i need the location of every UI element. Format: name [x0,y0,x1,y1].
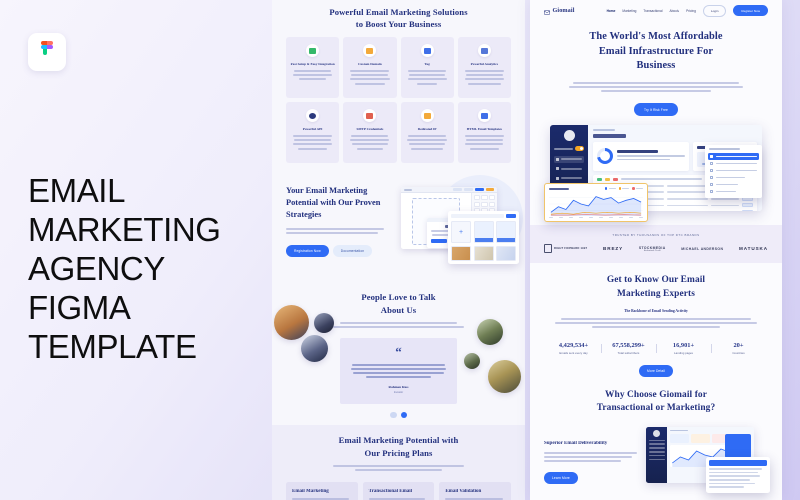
pricing-heading: Email Marketing Potential with Our Prici… [272,434,525,458]
feature-card[interactable]: Powerful Analytics [458,37,511,98]
checkbox-icon [710,183,713,186]
envelope-icon [544,2,550,20]
pricing-grid: Email Marketing Transactional Email Emai… [286,482,511,500]
window-icon [478,109,491,122]
template-tile[interactable] [451,246,471,262]
experts-subheading: The Backbone of Email Sending Activity [546,309,766,313]
donut-chart [597,148,613,164]
bar-chart-icon [421,44,434,57]
nav-link-home[interactable]: Home [607,9,616,13]
dashboard-nav-item[interactable] [554,165,584,172]
open-folder-icon [421,109,434,122]
hero-subtext [550,82,762,95]
promo-title-line: MARKETING [28,211,260,250]
brand-logo-text: MATUSKA [739,246,768,251]
quote-icon: “ [395,347,402,357]
giomail-dashboard-mockup [544,125,768,222]
legend-item [632,187,643,190]
stats-row: 4,429,534+ Emails sent every day 67,558,… [546,342,766,356]
feature-card[interactable]: HTML Email Templates [458,102,511,163]
site-logo-text: Giomail [553,7,575,14]
dashboard-dropdown-menu[interactable] [705,145,762,198]
testimonials-section: People Love to Talk About Us “ Rahman Ki… [272,291,525,421]
feature-card-body [405,135,450,152]
testimonial-author: Rahman Kios [389,385,409,389]
feature-card[interactable]: Custom Domain [343,37,396,98]
site-logo[interactable]: Giomail [544,2,575,20]
feature-card-title: Tag [424,62,429,67]
toggle-switch-icon [575,146,584,151]
brand-logo: MICHAEL ANDERSON [681,247,723,251]
trusted-brands-section: Trusted by thousands of top DTC brands R… [530,225,782,263]
feature-card-title: HTML Email Templates [467,127,502,132]
feature-card-body [347,135,392,152]
stat-item: 20+ Countries [711,342,766,356]
brand-logo: STOCKMEDIA Selected Craft [639,246,666,252]
template-tile[interactable] [474,246,494,262]
dashboard-logo-icon [564,130,575,141]
pricing-card-title: Transactional Email [369,489,429,494]
feature-card-body [405,70,450,87]
template-tile[interactable] [496,246,516,262]
feature-card-body [290,70,335,83]
hero-section: The World's Most Affordable Email Infras… [530,21,782,116]
templates-grid: + [451,221,516,262]
chart-title [549,188,569,190]
deliverability-popup [706,457,770,493]
chart-x-axis [549,217,643,218]
dashboard-breadcrumb [593,129,615,131]
dashboard-logo-icon [653,430,660,437]
stat-label: Emails sent every day [546,351,601,355]
dashboard-nav-item[interactable] [554,156,584,163]
dropdown-item[interactable] [708,174,759,181]
carousel-prev-button[interactable] [390,412,397,419]
stat-label: Total subscribers [601,351,656,355]
experts-cta-row: More Detail [546,365,766,377]
nav-link-marketing[interactable]: Marketing [622,9,636,13]
feature-card-body [462,70,507,87]
features-grid: Fast Setup & Easy Integration Custom Dom… [286,37,511,163]
feature-card[interactable]: Powerful API [286,102,339,163]
trusted-brands-label: Trusted by thousands of top DTC brands [544,233,768,237]
builder-templates-window: + [448,211,519,264]
deliverability-topbar [670,430,751,432]
row-action-button[interactable] [742,210,753,211]
stat-item: 67,558,299+ Total subscribers [601,342,656,356]
chart-header [549,187,643,190]
login-button[interactable]: Login [703,5,727,17]
legend-item [605,187,616,190]
right-page-preview[interactable]: Giomail Home Marketing Transactional Abo… [530,0,782,500]
dropdown-item[interactable] [708,167,759,174]
figma-logo-icon [39,41,55,64]
why-feature-body [544,452,640,465]
why-feature-title: Superior Email Deliverability [544,441,640,446]
toolbox-icon [363,109,376,122]
chevron-down-icon: ▾ [678,10,679,13]
progress-card-text [617,150,685,162]
feature-card-title: Dedicated IP [418,127,437,132]
email-builder-mockup: + [401,187,519,269]
feature-card[interactable]: Dedicated IP [401,102,454,163]
row-action-button[interactable] [742,203,753,207]
deliverability-sidebar [646,427,667,483]
brand-logo: RIGHT FORWARD 1997 [544,244,587,253]
avatar [301,335,328,362]
layout-icon [478,44,491,57]
dropdown-item[interactable] [708,160,759,167]
features-heading: Powerful Email Marketing Solutions to Bo… [272,6,525,30]
avatar [274,305,309,340]
pricing-card[interactable]: Email Marketing [286,482,358,500]
why-choose-section: Why Choose Giomail for Transactional or … [530,377,782,489]
kpi-card [691,434,710,443]
carousel-pagination [272,412,525,419]
gear-icon [306,109,319,122]
register-now-button[interactable]: Register Now [733,5,768,16]
template-tile[interactable] [474,221,494,244]
promo-title-line: TEMPLATE [28,328,260,367]
site-navbar: Giomail Home Marketing Transactional Abo… [530,0,782,21]
pricing-card-title: Email Validation [445,489,505,494]
brand-logo-text: BREZY [603,246,623,251]
dropdown-item[interactable] [708,153,759,160]
monitor-icon [306,44,319,57]
documentation-button[interactable]: Documentation [333,245,372,257]
folder-icon [363,44,376,57]
carousel-next-button[interactable] [401,412,408,419]
dropdown-item[interactable] [708,181,759,188]
feature-card-title: SMTP Credentials [356,127,383,132]
feature-card[interactable]: Tag [401,37,454,98]
experts-heading: Get to Know Our Email Marketing Experts [546,274,766,301]
kpi-card [670,434,689,443]
why-choose-text: Superior Email Deliverability Learn More [544,427,640,489]
feature-card[interactable]: Fast Setup & Easy Integration [286,37,339,98]
strategies-buttons: Registration Now Documentation [286,245,386,257]
nav-link-transactional[interactable]: Transactional [643,9,662,13]
registration-now-button[interactable]: Registration Now [286,245,329,257]
testimonials-heading: People Love to Talk About Us [272,291,525,315]
testimonial-quote [350,364,447,381]
why-choose-heading: Why Choose Giomail for Transactional or … [544,389,768,416]
promo-panel-tile [725,434,751,458]
avatar [464,353,480,369]
navbar-links: Home Marketing Transactional About▾ Pric… [607,5,768,17]
brand-logo: BREZY [603,246,623,251]
sidebar-toggle[interactable] [554,146,584,151]
feature-card-title: Fast Setup & Easy Integration [291,62,335,67]
experts-body [546,318,766,331]
nav-link-pricing[interactable]: Pricing [686,9,696,13]
dashboard-nav-item[interactable] [554,175,584,182]
feature-card[interactable]: SMTP Credentials [343,102,396,163]
feature-card-title: Powerful API [303,127,323,132]
dashboard-progress-card [593,142,689,170]
hero-heading: The World's Most Affordable Email Infras… [550,30,762,74]
pricing-card-title: Email Marketing [292,489,352,494]
deliverability-dashboard-mockup [646,427,768,489]
add-template-tile[interactable]: + [451,221,471,244]
checkbox-icon [710,190,713,193]
dropdown-item[interactable] [708,188,759,195]
stat-item: 4,429,534+ Emails sent every day [546,342,601,356]
checkbox-icon [710,155,713,158]
stat-item: 16,901+ Landing pages [656,342,711,356]
hero-cta-row: Try It Risk Free [550,103,762,116]
avatar [488,360,521,393]
document-mark-icon [544,244,552,253]
template-tile[interactable] [496,221,516,244]
pricing-card[interactable]: Email Validation [439,482,511,500]
promo-title: EMAIL MARKETING AGENCY FIGMA TEMPLATE [28,172,260,367]
promo-title-line: AGENCY [28,250,260,289]
checkbox-icon [710,169,713,172]
dropdown-label [709,148,740,150]
feature-card-body [462,135,507,152]
nav-link-about[interactable]: About▾ [669,9,679,13]
dashboard-chart-card [544,183,648,222]
dashboard-greeting [593,134,626,138]
stat-label: Landing pages [656,351,711,355]
experts-section: Get to Know Our Email Marketing Experts … [530,263,782,377]
avatar [477,319,503,345]
chart-legend [605,187,643,190]
strategies-text: Your Email Marketing Potential with Our … [286,185,386,257]
why-choose-body: Superior Email Deliverability Learn More [544,427,768,489]
brand-logo-text: RIGHT FORWARD 1997 [554,247,587,250]
checkbox-icon [710,176,713,179]
feature-card-title: Custom Domain [358,62,382,67]
brand-logo: MATUSKA [739,246,768,251]
figma-logo-badge [28,33,66,71]
stat-value: 67,558,299+ [601,342,656,349]
avatar [314,313,334,333]
feature-card-title: Powerful Analytics [471,62,498,67]
legend-item [619,187,630,190]
strategies-heading: Your Email Marketing Potential with Our … [286,185,386,220]
promo-panel: EMAIL MARKETING AGENCY FIGMA TEMPLATE [0,0,272,500]
chart-plot-area [549,192,643,216]
brand-logo-text: STOCKMEDIA Selected Craft [639,246,666,252]
stat-value: 20+ [711,342,766,349]
brand-logos-row: RIGHT FORWARD 1997 BREZY STOCKMEDIA Sele… [544,244,768,253]
stat-value: 16,901+ [656,342,711,349]
pricing-subtext [272,465,525,473]
stat-value: 4,429,534+ [546,342,601,349]
promo-title-line: EMAIL [28,172,260,211]
testimonial-card: “ Rahman Kios Investor [340,338,457,404]
brand-logo-text: MICHAEL ANDERSON [681,247,723,251]
strategies-body [286,228,386,236]
strategies-section: Your Email Marketing Potential with Our … [272,173,525,285]
pricing-card[interactable]: Transactional Email [363,482,435,500]
pricing-section: Email Marketing Potential with Our Prici… [272,425,525,500]
feature-card-body [290,135,335,152]
checkbox-icon [710,162,713,165]
templates-toolbar [451,214,516,218]
features-section: Powerful Email Marketing Solutions to Bo… [272,0,525,30]
feature-card-body [347,70,392,87]
testimonial-author-role: Investor [394,391,403,394]
popup-header [709,460,767,466]
more-detail-button[interactable]: More Detail [639,365,673,377]
stat-label: Countries [711,351,766,355]
middle-page-preview[interactable]: Powerful Email Marketing Solutions to Bo… [272,0,525,500]
promo-title-line: FIGMA [28,289,260,328]
learn-more-button[interactable]: Learn More [544,472,578,484]
try-it-risk-free-button[interactable]: Try It Risk Free [634,103,678,116]
